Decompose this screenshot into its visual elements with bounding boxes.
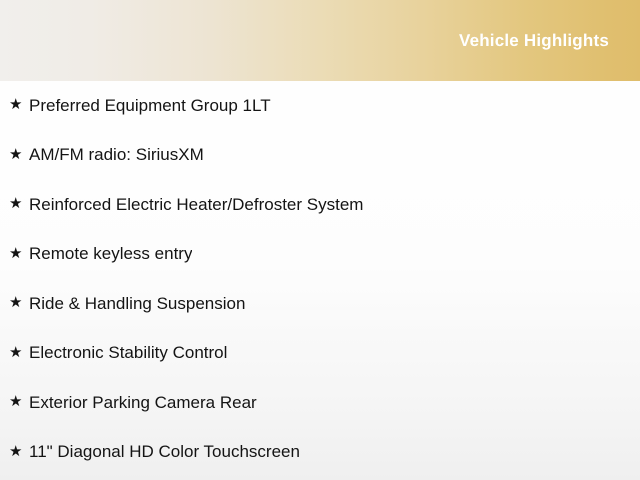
- star-icon: ★: [9, 394, 29, 409]
- list-item: ★ Remote keyless entry: [0, 230, 640, 280]
- list-item-label: 11" Diagonal HD Color Touchscreen: [29, 442, 300, 462]
- list-item: ★ 11" Diagonal HD Color Touchscreen: [0, 428, 640, 478]
- star-icon: ★: [9, 147, 29, 162]
- star-icon: ★: [9, 246, 29, 261]
- star-icon: ★: [9, 97, 29, 112]
- star-icon: ★: [9, 345, 29, 360]
- list-item: ★ Electronic Stability Control: [0, 329, 640, 379]
- star-icon: ★: [9, 295, 29, 310]
- star-icon: ★: [9, 444, 29, 459]
- panel-header: Vehicle Highlights: [0, 0, 640, 81]
- list-item-label: Remote keyless entry: [29, 244, 192, 264]
- list-item-label: AM/FM radio: SiriusXM: [29, 145, 204, 165]
- list-item: ★ Reinforced Electric Heater/Defroster S…: [0, 180, 640, 230]
- page-title: Vehicle Highlights: [459, 32, 609, 49]
- star-icon: ★: [9, 196, 29, 211]
- list-item-label: Reinforced Electric Heater/Defroster Sys…: [29, 195, 363, 215]
- list-item-label: Ride & Handling Suspension: [29, 294, 245, 314]
- list-item-label: Electronic Stability Control: [29, 343, 227, 363]
- list-item: ★ Exterior Parking Camera Rear: [0, 378, 640, 428]
- list-item: ★ AM/FM radio: SiriusXM: [0, 131, 640, 181]
- list-item-label: Exterior Parking Camera Rear: [29, 393, 257, 413]
- vehicle-highlights-panel: Vehicle Highlights ★ Preferred Equipment…: [0, 0, 640, 480]
- vehicle-highlights-list: ★ Preferred Equipment Group 1LT ★ AM/FM …: [0, 81, 640, 480]
- list-item-label: Preferred Equipment Group 1LT: [29, 96, 271, 116]
- list-item: ★ Ride & Handling Suspension: [0, 279, 640, 329]
- list-item: ★ Preferred Equipment Group 1LT: [0, 81, 640, 131]
